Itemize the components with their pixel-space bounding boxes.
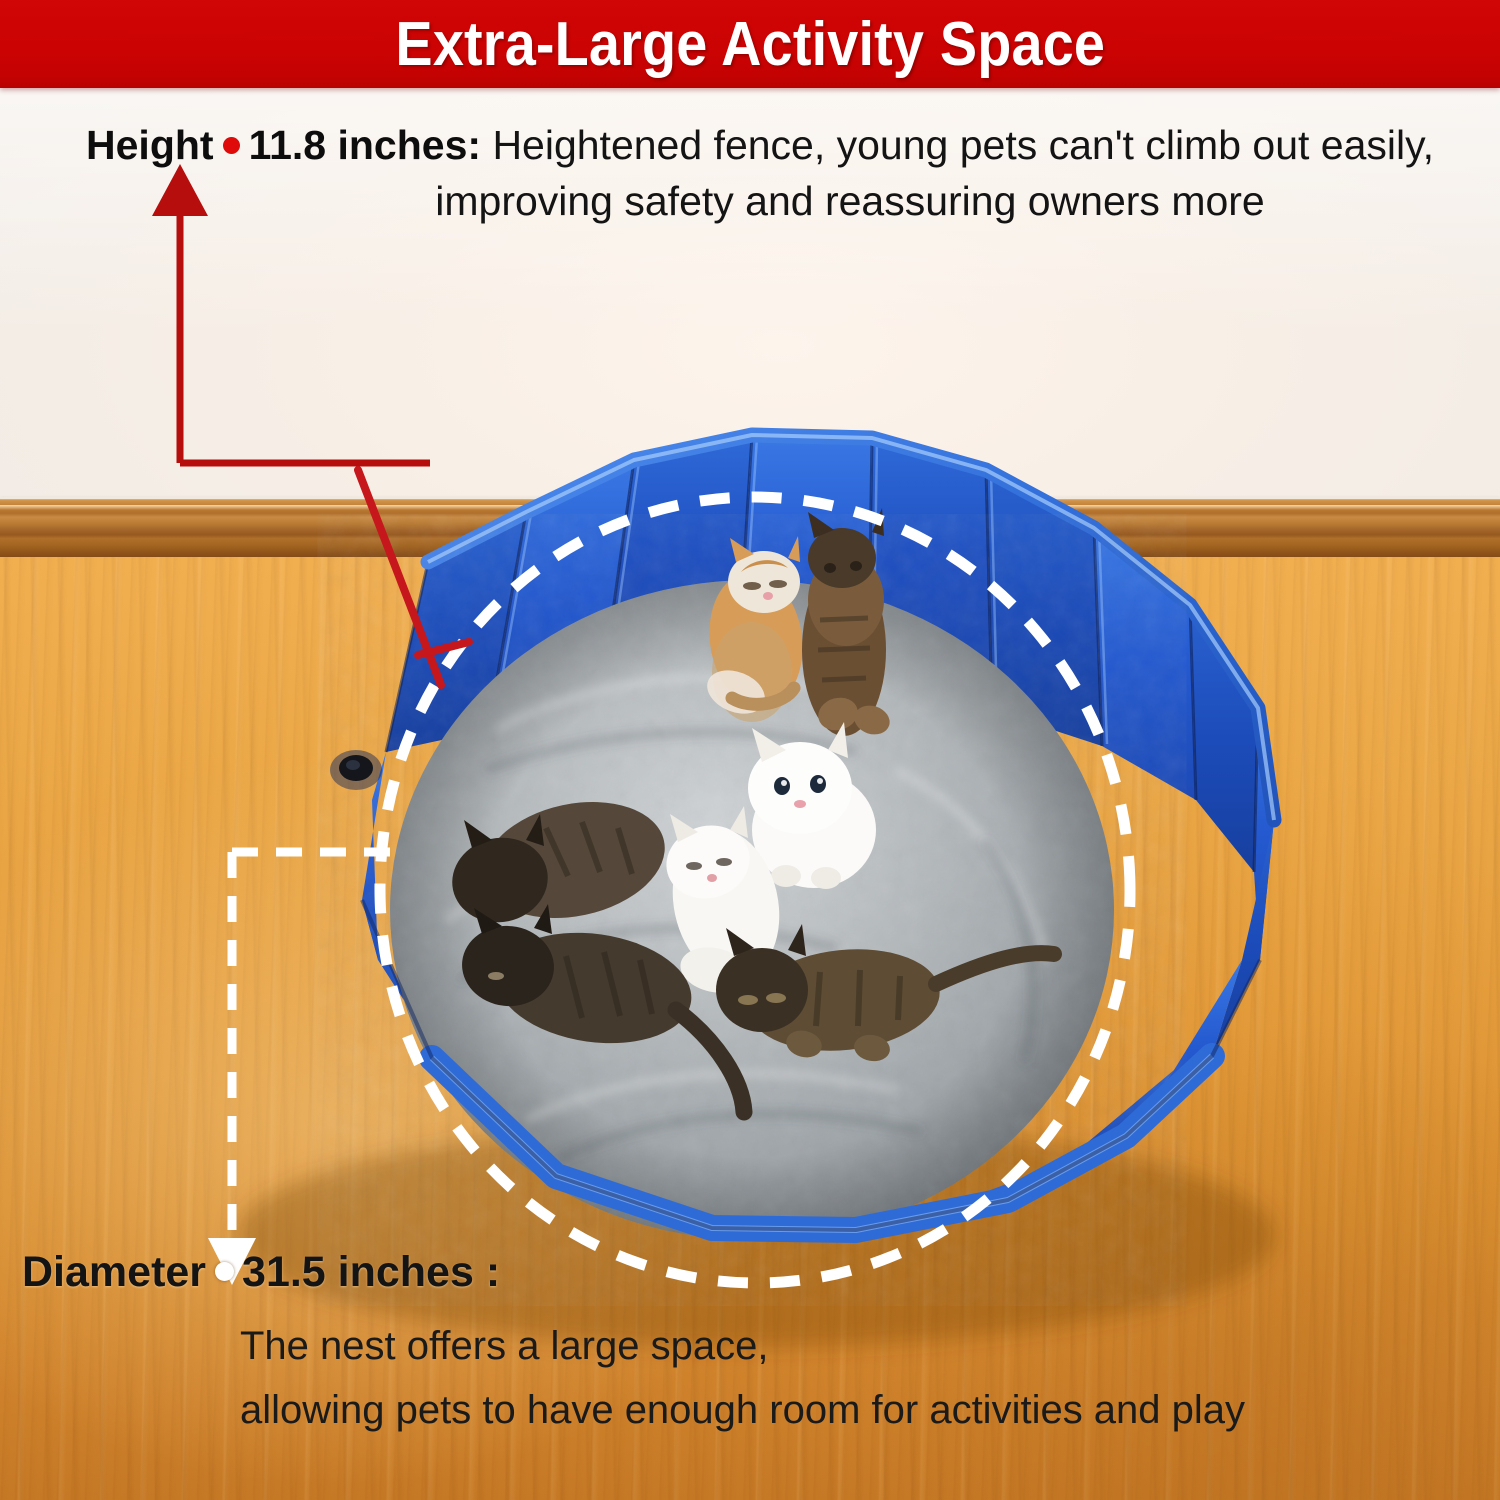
diameter-value: 31.5 inches : <box>242 1248 500 1296</box>
height-callout: Height11.8 inches: Heightened fence, you… <box>0 118 1500 230</box>
diameter-callout: Diameter31.5 inches : The nest offers a … <box>22 1248 1482 1441</box>
diameter-description-line1: The nest offers a large space, <box>22 1297 1482 1379</box>
diameter-label: Diameter <box>22 1248 206 1296</box>
height-description-line2: improving safety and reassuring owners m… <box>435 178 1265 224</box>
pen-drain-plug <box>330 750 382 790</box>
height-callout-line1: Height11.8 inches: Heightened fence, you… <box>0 118 1500 172</box>
white-bullet-dot <box>215 1262 234 1281</box>
height-value: 11.8 inches: <box>249 122 481 168</box>
diameter-description-line2: allowing pets to have enough room for ac… <box>22 1379 1482 1441</box>
height-label: Height <box>86 122 214 168</box>
header-banner: Extra-Large Activity Space <box>0 0 1500 88</box>
page-title: Extra-Large Activity Space <box>395 9 1105 80</box>
height-description-line1: Heightened fence, young pets can't climb… <box>492 122 1434 168</box>
height-callout-line2: improving safety and reassuring owners m… <box>0 172 1500 230</box>
pet-playpen <box>196 300 1304 1300</box>
red-bullet-dot <box>223 137 240 154</box>
diameter-callout-line1: Diameter31.5 inches : <box>22 1248 1482 1297</box>
infographic-canvas: Extra-Large Activity Space Height11.8 in… <box>0 0 1500 1500</box>
